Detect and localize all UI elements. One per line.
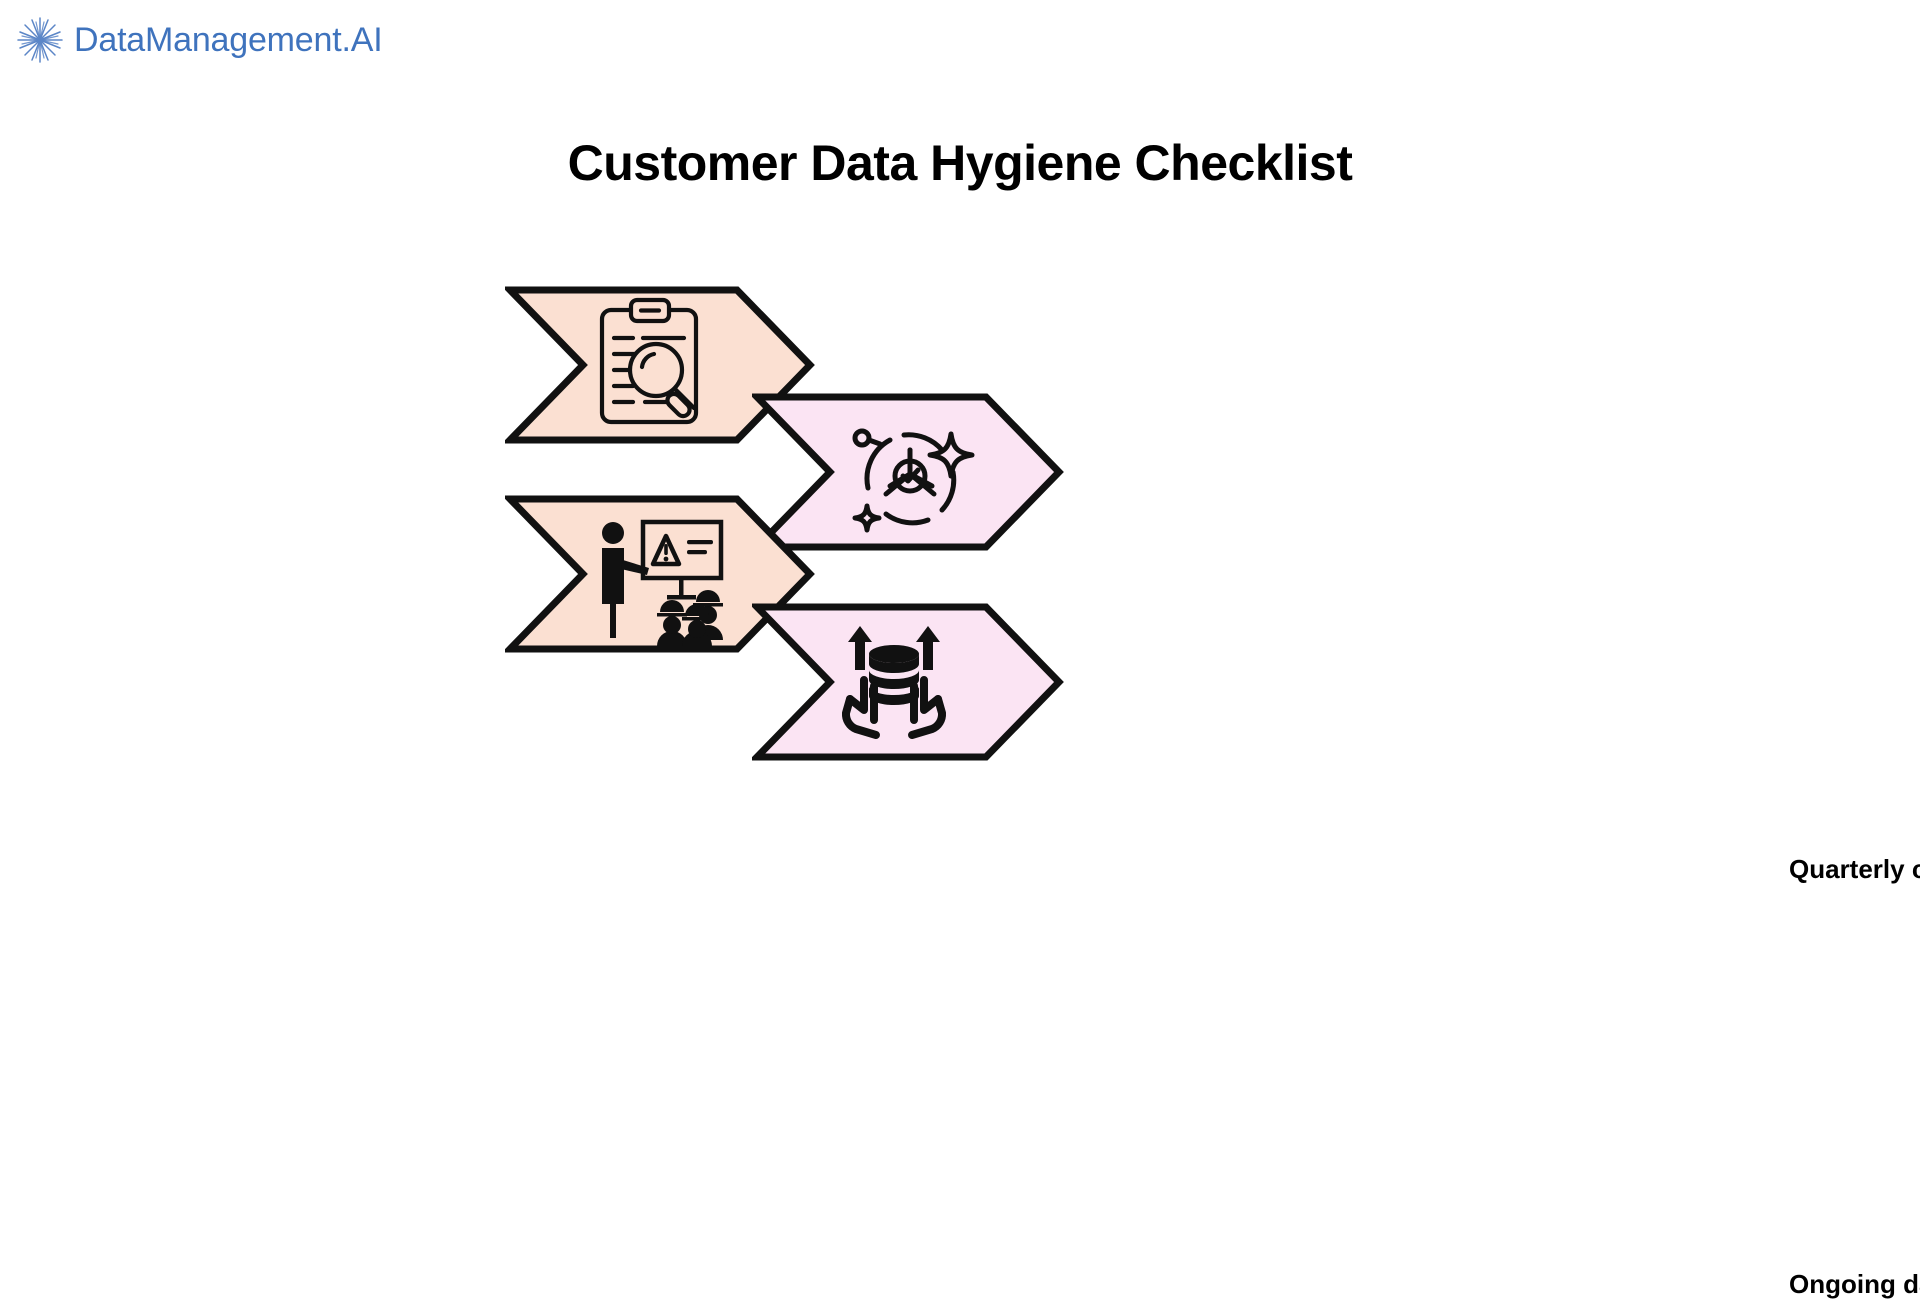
chevron-diagram: Monthly check for key accounts: [0, 0, 1920, 1080]
step-2-label: Quarterly checks for inactive accounts: [1789, 848, 1920, 890]
step-4-chevron[interactable]: Ongoing data enrichment: [752, 602, 1064, 762]
step-4-label: Ongoing data enrichment: [1789, 1263, 1920, 1305]
training-presentation-icon: [597, 516, 733, 646]
database-in-hands-icon: [830, 620, 958, 748]
process-cycle-sparkle-icon: [846, 410, 978, 538]
clipboard-magnifier-icon: [593, 297, 713, 429]
